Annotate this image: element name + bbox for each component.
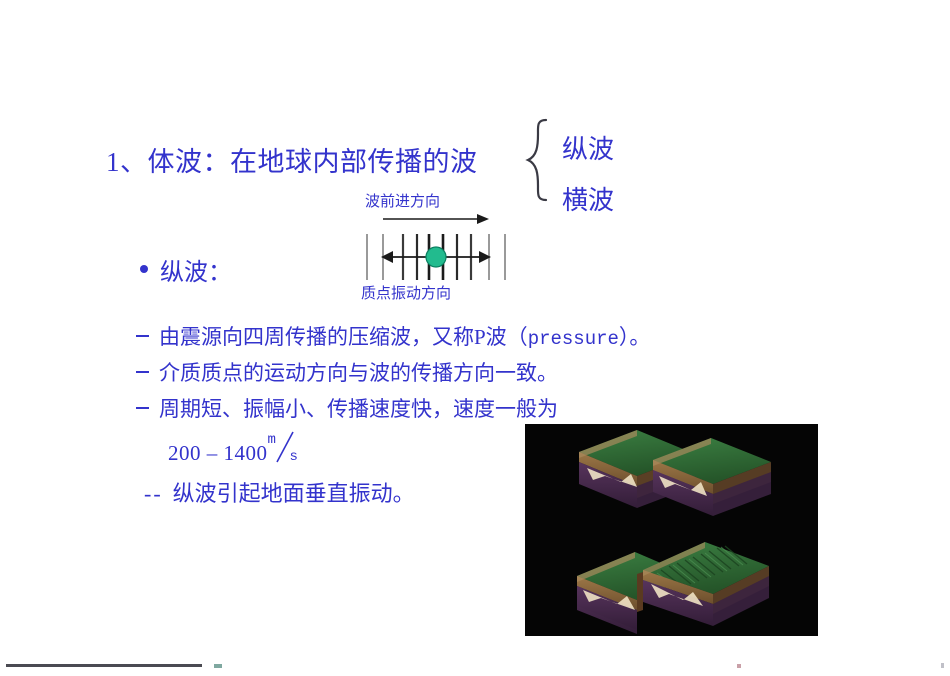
- formula-range: 200 – 1400: [168, 441, 268, 465]
- double-dash-icon: --: [144, 481, 163, 507]
- brace-item-s-wave: 横波: [562, 180, 614, 217]
- unit-fraction: m s: [268, 438, 302, 468]
- slide-canvas: 1、体波：在地球内部传播的波 纵波 横波 波前进方向: [0, 0, 950, 676]
- velocity-formula: 200 – 1400 m s: [168, 438, 302, 468]
- conclusion-line: --纵波引起地面垂直振动。: [144, 476, 415, 508]
- unit-denominator: s: [290, 449, 298, 465]
- bullet-dot-icon: [140, 265, 148, 273]
- list-item-text-pre: 周期短、振幅小、传播速度快，速度一般为: [159, 397, 558, 421]
- list-item-text-pre: 介质质点的运动方向与波的传播方向一致。: [159, 361, 558, 385]
- footer-mark: [941, 663, 944, 668]
- list-item-p-wave: 纵波：: [140, 252, 232, 287]
- list-item: 周期短、振幅小、传播速度快，速度一般为: [136, 393, 558, 423]
- dash-bullet-icon: [136, 335, 149, 337]
- list-item-text-mono: pressure: [528, 328, 619, 350]
- list-item-label: 纵波：: [160, 260, 232, 286]
- particle-oscillation-label: 质点振动方向: [361, 282, 451, 303]
- dash-bullet-icon: [136, 371, 149, 373]
- footer-mark: [737, 664, 741, 668]
- wave-direction-label: 波前进方向: [365, 190, 440, 211]
- brace-item-p-wave: 纵波: [562, 129, 614, 166]
- list-item: 由震源向四周传播的压缩波，又称P波（pressure）。: [136, 321, 650, 351]
- footer-mark: [214, 664, 222, 668]
- curly-brace-icon: [524, 118, 550, 202]
- footer-rule: [6, 664, 202, 667]
- list-item-text-pre: 由震源向四周传播的压缩波，又称P波（: [159, 325, 528, 349]
- wave-diagram: 波前进方向: [355, 190, 515, 308]
- fault-illustration-image: [525, 424, 818, 636]
- list-item: 介质质点的运动方向与波的传播方向一致。: [136, 357, 558, 387]
- conclusion-text: 纵波引起地面垂直振动。: [173, 481, 415, 506]
- page-title: 1、体波：在地球内部传播的波: [106, 140, 478, 179]
- list-item-text-post: ）。: [619, 325, 651, 349]
- compression-bars-icon: [361, 232, 511, 282]
- propagation-arrow-icon: [381, 212, 491, 226]
- dash-bullet-icon: [136, 407, 149, 409]
